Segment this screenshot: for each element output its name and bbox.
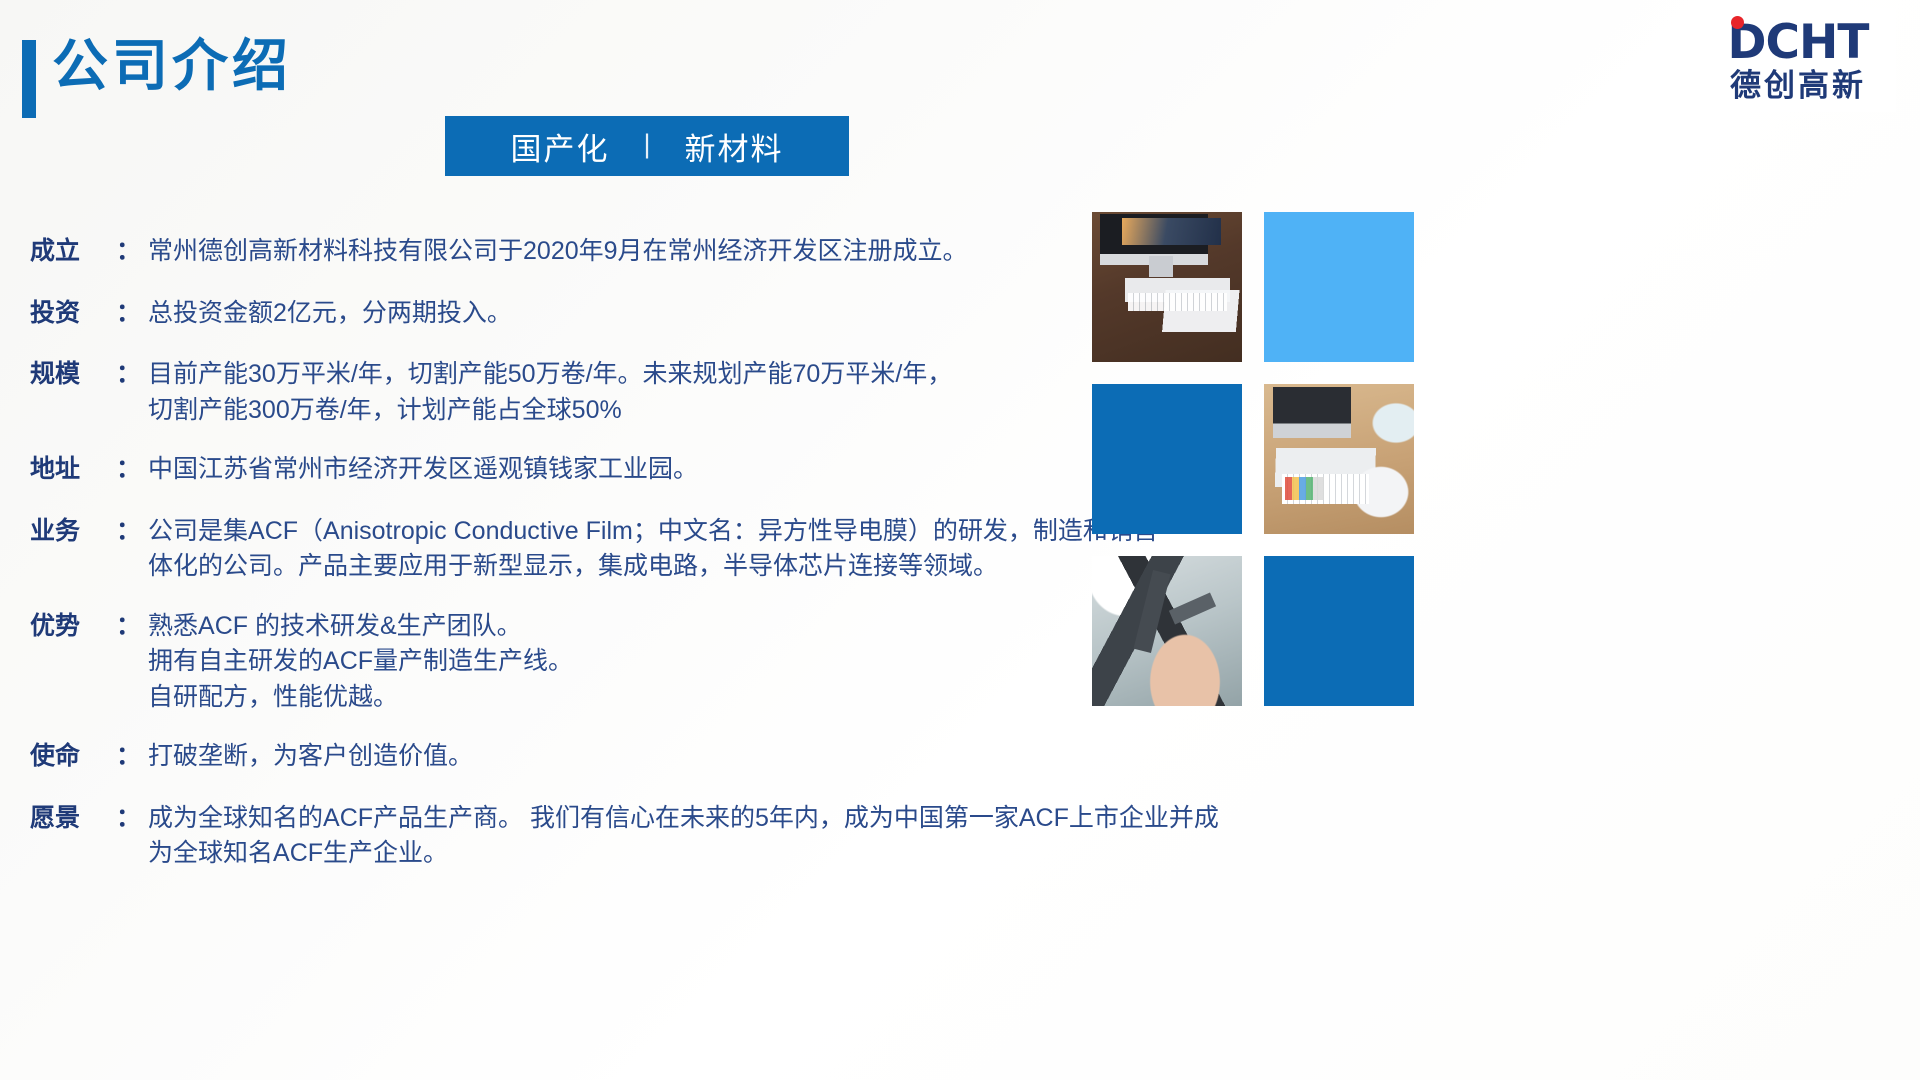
tagline-banner: 国产化 | 新材料 <box>445 116 849 176</box>
grid-photo-bright-desk-imac-keyboard-mouse <box>1264 384 1414 534</box>
content-row: 规模：目前产能30万平米/年，切割产能50万卷/年。未来规划产能70万平米/年，… <box>30 357 1090 428</box>
content-row-line: 常州德创高新材料科技有限公司于2020年9月在常州经济开发区注册成立。 <box>148 234 1090 270</box>
content-row-colon: ： <box>116 739 148 775</box>
content-row-body: 中国江苏省常州市经济开发区遥观镇钱家工业园。 <box>148 452 1090 488</box>
content-row-label: 优势 <box>30 609 116 645</box>
title-accent-bar <box>22 40 36 118</box>
page-title: 公司介绍 <box>52 32 292 99</box>
content-row-body: 打破垄断，为客户创造价值。 <box>148 739 1090 775</box>
content-row-line: 熟悉ACF 的技术研发&生产团队。 <box>148 609 1090 645</box>
content-row-line: 自研配方，性能优越。 <box>148 680 1090 716</box>
grid-photo-medical-robotic-arm-hand <box>1092 556 1242 706</box>
content-row-label: 地址 <box>30 452 116 488</box>
logo-chinese-name: 德创高新 <box>1730 70 1866 101</box>
content-row-colon: ： <box>116 514 148 550</box>
logo-wordmark: DCHT <box>1728 15 1869 70</box>
content-row-colon: ： <box>116 357 148 393</box>
content-row-body: 熟悉ACF 的技术研发&生产团队。拥有自主研发的ACF量产制造生产线。自研配方，… <box>148 609 1090 716</box>
content-row-line: 成为全球知名的ACF产品生产商。 我们有信心在未来的5年内，成为中国第一家ACF… <box>148 801 1219 837</box>
content-row: 地址：中国江苏省常州市经济开发区遥观镇钱家工业园。 <box>30 452 1090 488</box>
content-row-colon: ： <box>116 609 148 645</box>
content-row: 使命：打破垄断，为客户创造价值。 <box>30 739 1090 775</box>
logo-mark: DCHT <box>1728 19 1869 66</box>
content-row-colon: ： <box>116 801 148 837</box>
slide-canvas: 公司介绍 DCHT 德创高新 国产化 | 新材料 成立：常州德创高新材料科技有限… <box>0 0 1920 1080</box>
content-row-line: 体化的公司。产品主要应用于新型显示，集成电路，半导体芯片连接等领域。 <box>148 549 1183 585</box>
image-grid <box>1092 212 1414 706</box>
content-row-label: 业务 <box>30 514 116 550</box>
logo-red-dot-icon <box>1731 16 1744 29</box>
content-row: 愿景：成为全球知名的ACF产品生产商。 我们有信心在未来的5年内，成为中国第一家… <box>30 801 1090 872</box>
content-row-label: 成立 <box>30 234 116 270</box>
content-row-line: 公司是集ACF（Anisotropic Conductive Film；中文名：… <box>148 514 1183 550</box>
content-list: 成立：常州德创高新材料科技有限公司于2020年9月在常州经济开发区注册成立。投资… <box>30 234 1090 896</box>
content-row: 业务：公司是集ACF（Anisotropic Conductive Film；中… <box>30 514 1090 585</box>
content-row-colon: ： <box>116 452 148 488</box>
content-row-body: 目前产能30万平米/年，切割产能50万卷/年。未来规划产能70万平米/年，切割产… <box>148 357 1090 428</box>
content-row: 优势：熟悉ACF 的技术研发&生产团队。拥有自主研发的ACF量产制造生产线。自研… <box>30 609 1090 716</box>
content-row-line: 切割产能300万卷/年，计划产能占全球50% <box>148 393 1090 429</box>
content-row-label: 愿景 <box>30 801 116 837</box>
content-row: 成立：常州德创高新材料科技有限公司于2020年9月在常州经济开发区注册成立。 <box>30 234 1090 270</box>
content-row-label: 规模 <box>30 357 116 393</box>
banner-separator: | <box>609 129 684 160</box>
content-row-colon: ： <box>116 234 148 270</box>
content-row-line: 目前产能30万平米/年，切割产能50万卷/年。未来规划产能70万平米/年， <box>148 357 1090 393</box>
grid-photo-imac-desk-keyboard-tablet <box>1092 212 1242 362</box>
content-row-label: 投资 <box>30 296 116 332</box>
content-row-line: 总投资金额2亿元，分两期投入。 <box>148 296 1090 332</box>
grid-color-tile <box>1264 212 1414 362</box>
content-row-label: 使命 <box>30 739 116 775</box>
content-row-line: 拥有自主研发的ACF量产制造生产线。 <box>148 644 1090 680</box>
content-row-body: 总投资金额2亿元，分两期投入。 <box>148 296 1090 332</box>
content-row-line: 为全球知名ACF生产企业。 <box>148 836 1219 872</box>
banner-left-text: 国产化 <box>510 124 609 169</box>
content-row-line: 打破垄断，为客户创造价值。 <box>148 739 1090 775</box>
grid-color-tile <box>1092 384 1242 534</box>
grid-color-tile <box>1264 556 1414 706</box>
company-logo: DCHT 德创高新 <box>1700 8 1896 112</box>
banner-right-text: 新材料 <box>685 124 784 169</box>
content-row: 投资：总投资金额2亿元，分两期投入。 <box>30 296 1090 332</box>
content-row-line: 中国江苏省常州市经济开发区遥观镇钱家工业园。 <box>148 452 1090 488</box>
content-row-body: 常州德创高新材料科技有限公司于2020年9月在常州经济开发区注册成立。 <box>148 234 1090 270</box>
content-row-colon: ： <box>116 296 148 332</box>
content-row-body: 公司是集ACF（Anisotropic Conductive Film；中文名：… <box>148 514 1183 585</box>
content-row-body: 成为全球知名的ACF产品生产商。 我们有信心在未来的5年内，成为中国第一家ACF… <box>148 801 1219 872</box>
